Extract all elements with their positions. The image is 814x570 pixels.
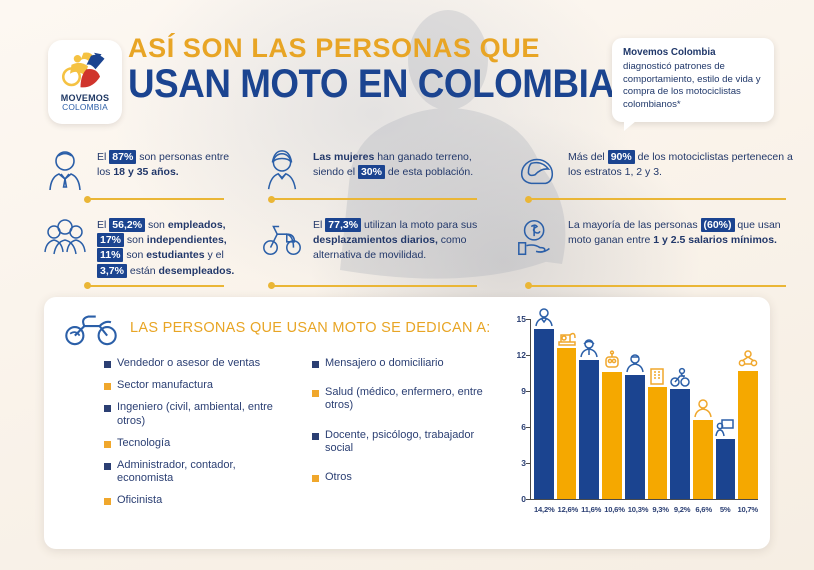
stats-rules-1	[0, 192, 814, 200]
chart-bar[interactable]	[534, 329, 554, 499]
man-shirt-tie-icon	[42, 148, 88, 192]
bars-container	[534, 319, 758, 499]
nurse-icon	[625, 353, 645, 373]
sewing-machine-icon	[557, 326, 577, 346]
legend-item[interactable]: Sector manufactura	[104, 379, 294, 392]
motorcycle-icon	[62, 309, 120, 347]
legend-swatch-icon	[104, 441, 111, 448]
movemos-colombia-mark-icon	[61, 48, 109, 92]
divider-rule	[529, 285, 786, 287]
robot-icon	[602, 350, 622, 370]
stats-rules-2	[0, 279, 814, 287]
bar-slot	[693, 319, 713, 499]
legend-swatch-icon	[104, 361, 111, 368]
legend-swatch-icon	[104, 498, 111, 505]
source-callout: Movemos Colombia diagnosticó patrones de…	[612, 38, 774, 122]
y-axis-line	[530, 319, 531, 499]
stats-section: El 87% son personas entre los 18 y 35 añ…	[0, 142, 814, 287]
legend-swatch-icon	[104, 463, 111, 470]
legend-item[interactable]: Mensajero o domiciliario	[312, 357, 502, 370]
y-axis-tick-mark	[526, 391, 531, 392]
helmet-icon	[515, 148, 559, 192]
salesman-icon	[534, 307, 554, 327]
title-block: ASÍ SON LAS PERSONAS QUE USAN MOTO EN CO…	[128, 34, 658, 104]
motorcyclist-icon	[670, 367, 690, 387]
divider-rule	[272, 285, 477, 287]
teacher-board-icon	[715, 417, 735, 437]
stat-daily-use: El 77,3% utilizan la moto para sus despl…	[252, 210, 505, 279]
stat-daily-use-text: El 77,3% utilizan la moto para sus despl…	[313, 214, 495, 264]
chart-bar[interactable]	[625, 375, 645, 499]
scooter-icon	[260, 216, 304, 260]
chart-bar[interactable]	[716, 439, 736, 499]
bar-slot	[557, 319, 577, 499]
legend-column-left: Vendedor o asesor de ventasSector manufa…	[104, 357, 294, 517]
legend-item-label: Ingeniero (civil, ambiental, entre otros…	[117, 401, 294, 427]
bar-value-label: 10,3%	[628, 505, 649, 514]
legend-column-right: Mensajero o domiciliarioSalud (médico, e…	[312, 357, 502, 517]
legend-item[interactable]: Ingeniero (civil, ambiental, entre otros…	[104, 401, 294, 427]
chart-bar[interactable]	[670, 389, 690, 499]
bar-slot	[716, 319, 736, 499]
chart-bar[interactable]	[602, 372, 622, 499]
legend-swatch-icon	[312, 390, 319, 397]
building-icon	[647, 365, 667, 385]
bar-slot	[738, 319, 758, 499]
legend-item-label: Tecnología	[117, 437, 170, 450]
bar-slot	[670, 319, 690, 499]
x-axis-labels: 14,2%12,6%11,6%10,6%10,3%9,3%9,2%6,6%5%1…	[534, 505, 758, 514]
stats-row-1: El 87% son personas entre los 18 y 35 añ…	[0, 142, 814, 192]
y-axis-tick-label: 15	[517, 314, 526, 324]
legend-item-label: Sector manufactura	[117, 379, 213, 392]
woman-icon	[260, 148, 304, 192]
legend-item[interactable]: Administrador, contador, economista	[104, 459, 294, 485]
legend-item-label: Vendedor o asesor de ventas	[117, 357, 260, 370]
callout-body: diagnosticó patrones de comportamiento, …	[623, 61, 761, 110]
legend-item-label: Salud (médico, enfermero, entre otros)	[325, 386, 502, 412]
y-axis-tick-mark	[526, 463, 531, 464]
group-people-icon	[42, 216, 88, 260]
logo-line2: COLOMBIA	[61, 103, 109, 112]
bar-slot	[648, 319, 668, 499]
legend-swatch-icon	[312, 433, 319, 440]
y-axis: 03691215	[510, 319, 530, 499]
legend-item[interactable]: Oficinista	[104, 494, 294, 507]
card-title: LAS PERSONAS QUE USAN MOTO SE DEDICAN A:	[130, 320, 491, 336]
divider-rule	[272, 198, 477, 200]
stat-occupation: El 56,2% son empleados, 17% son independ…	[0, 210, 252, 279]
stat-income: La mayoría de las personas (60%) que usa…	[505, 210, 814, 279]
courier-helmet-icon	[579, 338, 599, 358]
y-axis-tick-mark	[526, 427, 531, 428]
chart-legend: Vendedor o asesor de ventasSector manufa…	[104, 357, 504, 517]
legend-item-label: Oficinista	[117, 494, 162, 507]
chart-bar[interactable]	[648, 387, 668, 499]
stat-strata-text: Más del 90% de los motociclistas pertene…	[568, 146, 804, 180]
bar-value-label: 11,6%	[581, 505, 601, 514]
stat-income-text: La mayoría de las personas (60%) que usa…	[568, 214, 804, 248]
bar-value-label: 6,6%	[694, 505, 713, 514]
bar-value-label: 5%	[716, 505, 735, 514]
stat-age-text: El 87% son personas entre los 18 y 35 añ…	[97, 146, 242, 180]
stat-women: Las mujeres han ganado terreno, siendo e…	[252, 142, 505, 192]
stat-women-text: Las mujeres han ganado terreno, siendo e…	[313, 146, 495, 180]
occupations-bar-chart: 03691215 14,2%12,6%11,6%10,6%10,3%9,3%9,…	[510, 319, 758, 531]
header: MOVEMOS COLOMBIA ASÍ SON LAS PERSONAS QU…	[0, 34, 814, 134]
bar-value-label: 14,2%	[534, 505, 555, 514]
bar-value-label: 9,2%	[673, 505, 692, 514]
chart-bar[interactable]	[557, 348, 577, 499]
legend-item-label: Otros	[325, 471, 352, 484]
legend-item-label: Mensajero o domiciliario	[325, 357, 444, 370]
legend-swatch-icon	[312, 361, 319, 368]
divider-rule	[88, 285, 224, 287]
legend-item[interactable]: Salud (médico, enfermero, entre otros)	[312, 386, 502, 412]
y-axis-tick-label: 12	[517, 350, 526, 360]
legend-swatch-icon	[104, 383, 111, 390]
chart-bar[interactable]	[738, 371, 758, 499]
callout-lead: Movemos Colombia	[623, 47, 763, 60]
divider-rule	[88, 198, 224, 200]
office-worker-icon	[693, 398, 713, 418]
page-title-top: ASÍ SON LAS PERSONAS QUE	[128, 34, 658, 62]
bar-value-label: 12,6%	[558, 505, 579, 514]
legend-item[interactable]: Tecnología	[104, 437, 294, 450]
stat-strata: Más del 90% de los motociclistas pertene…	[505, 142, 814, 192]
occupations-card: LAS PERSONAS QUE USAN MOTO SE DEDICAN A:…	[44, 297, 770, 549]
legend-item-label: Administrador, contador, economista	[117, 459, 294, 485]
stats-row-2: El 56,2% son empleados, 17% son independ…	[0, 210, 814, 279]
legend-item-label: Docente, psicólogo, trabajador social	[325, 429, 502, 455]
legend-swatch-icon	[104, 405, 111, 412]
y-axis-tick-mark	[526, 355, 531, 356]
page-title-main: USAN MOTO EN COLOMBIA	[128, 64, 616, 104]
y-axis-tick-mark	[526, 499, 531, 500]
card-header: LAS PERSONAS QUE USAN MOTO SE DEDICAN A:	[62, 309, 491, 347]
stat-age: El 87% son personas entre los 18 y 35 añ…	[0, 142, 252, 192]
legend-item[interactable]: Otros	[312, 471, 502, 484]
bar-slot	[625, 319, 645, 499]
bar-value-label: 10,7%	[737, 505, 758, 514]
legend-item[interactable]: Vendedor o asesor de ventas	[104, 357, 294, 370]
hand-money-icon	[515, 216, 559, 260]
bar-slot	[534, 319, 554, 499]
chart-bar[interactable]	[579, 360, 599, 499]
x-axis-line	[530, 499, 758, 500]
legend-item[interactable]: Docente, psicólogo, trabajador social	[312, 429, 502, 455]
stat-occupation-text: El 56,2% son empleados, 17% son independ…	[97, 214, 242, 279]
y-axis-tick-mark	[526, 319, 531, 320]
bar-value-label: 10,6%	[604, 505, 625, 514]
bar-value-label: 9,3%	[651, 505, 670, 514]
bar-slot	[602, 319, 622, 499]
chart-bar[interactable]	[693, 420, 713, 499]
divider-rule	[529, 198, 786, 200]
group-network-icon	[738, 349, 758, 369]
brand-logo[interactable]: MOVEMOS COLOMBIA	[48, 40, 122, 124]
bar-slot	[579, 319, 599, 499]
legend-swatch-icon	[312, 475, 319, 482]
